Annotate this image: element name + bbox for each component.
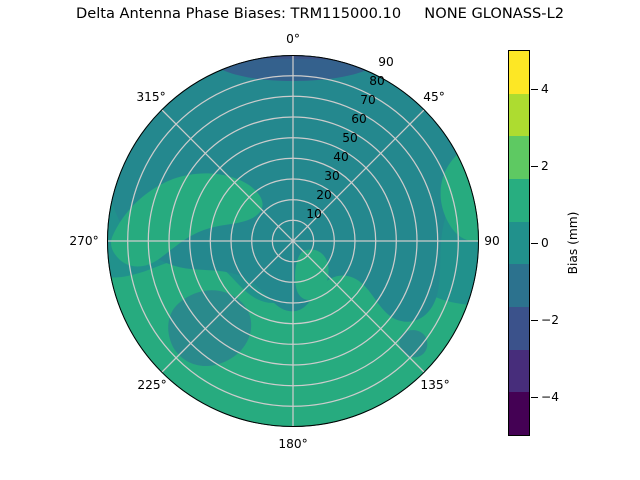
polar-axes[interactable] bbox=[107, 55, 479, 427]
colorbar-band-6 bbox=[509, 307, 529, 350]
angular-tick-90: 90 bbox=[484, 235, 500, 247]
colorbar-tick-mark-neg4 bbox=[531, 397, 538, 398]
colorbar[interactable] bbox=[508, 50, 530, 436]
angular-tick-135: 135° bbox=[420, 379, 449, 391]
colorbar-band-8 bbox=[509, 392, 529, 435]
colorbar-axis-label: Bias (mm) bbox=[566, 212, 580, 275]
radial-tick-70: 70 bbox=[360, 94, 376, 106]
polar-grid bbox=[107, 55, 479, 427]
colorbar-tick-label-4: 4 bbox=[541, 83, 549, 95]
colorbar-tick-mark-2 bbox=[531, 166, 538, 167]
angular-tick-180: 180° bbox=[278, 438, 307, 450]
colorbar-tick-label-2: 2 bbox=[541, 160, 549, 172]
colorbar-tick-mark-0 bbox=[531, 243, 538, 244]
radial-tick-40: 40 bbox=[333, 151, 349, 163]
radial-tick-10: 10 bbox=[306, 208, 322, 220]
angular-tick-0: 0° bbox=[286, 33, 300, 45]
radial-tick-60: 60 bbox=[351, 113, 367, 125]
colorbar-tick-mark-neg2 bbox=[531, 320, 538, 321]
colorbar-band-4 bbox=[509, 222, 529, 265]
angular-tick-225: 225° bbox=[137, 379, 166, 391]
colorbar-band-1 bbox=[509, 94, 529, 137]
colorbar-band-0 bbox=[509, 51, 529, 94]
page-title: Delta Antenna Phase Biases: TRM115000.10… bbox=[0, 5, 640, 22]
radial-tick-90: 90 bbox=[378, 56, 394, 68]
colorbar-tick-label-0: 0 bbox=[541, 237, 549, 249]
polar-heatmap-svg bbox=[107, 55, 479, 427]
radial-tick-30: 30 bbox=[324, 170, 340, 182]
colorbar-band-7 bbox=[509, 350, 529, 393]
colorbar-band-3 bbox=[509, 179, 529, 222]
angular-tick-270: 270° bbox=[69, 235, 98, 247]
figure-canvas: Delta Antenna Phase Biases: TRM115000.10… bbox=[0, 0, 640, 480]
angular-tick-315: 315° bbox=[136, 91, 165, 103]
radial-tick-80: 80 bbox=[369, 75, 385, 87]
colorbar-band-5 bbox=[509, 264, 529, 307]
radial-tick-20: 20 bbox=[316, 189, 332, 201]
angular-tick-45: 45° bbox=[423, 91, 445, 103]
polar-data-surface bbox=[107, 55, 479, 427]
colorbar-tick-label-neg2: −2 bbox=[541, 314, 559, 326]
colorbar-tick-mark-4 bbox=[531, 89, 538, 90]
colorbar-tick-label-neg4: −4 bbox=[541, 391, 559, 403]
radial-tick-50: 50 bbox=[342, 132, 358, 144]
colorbar-band-2 bbox=[509, 136, 529, 179]
